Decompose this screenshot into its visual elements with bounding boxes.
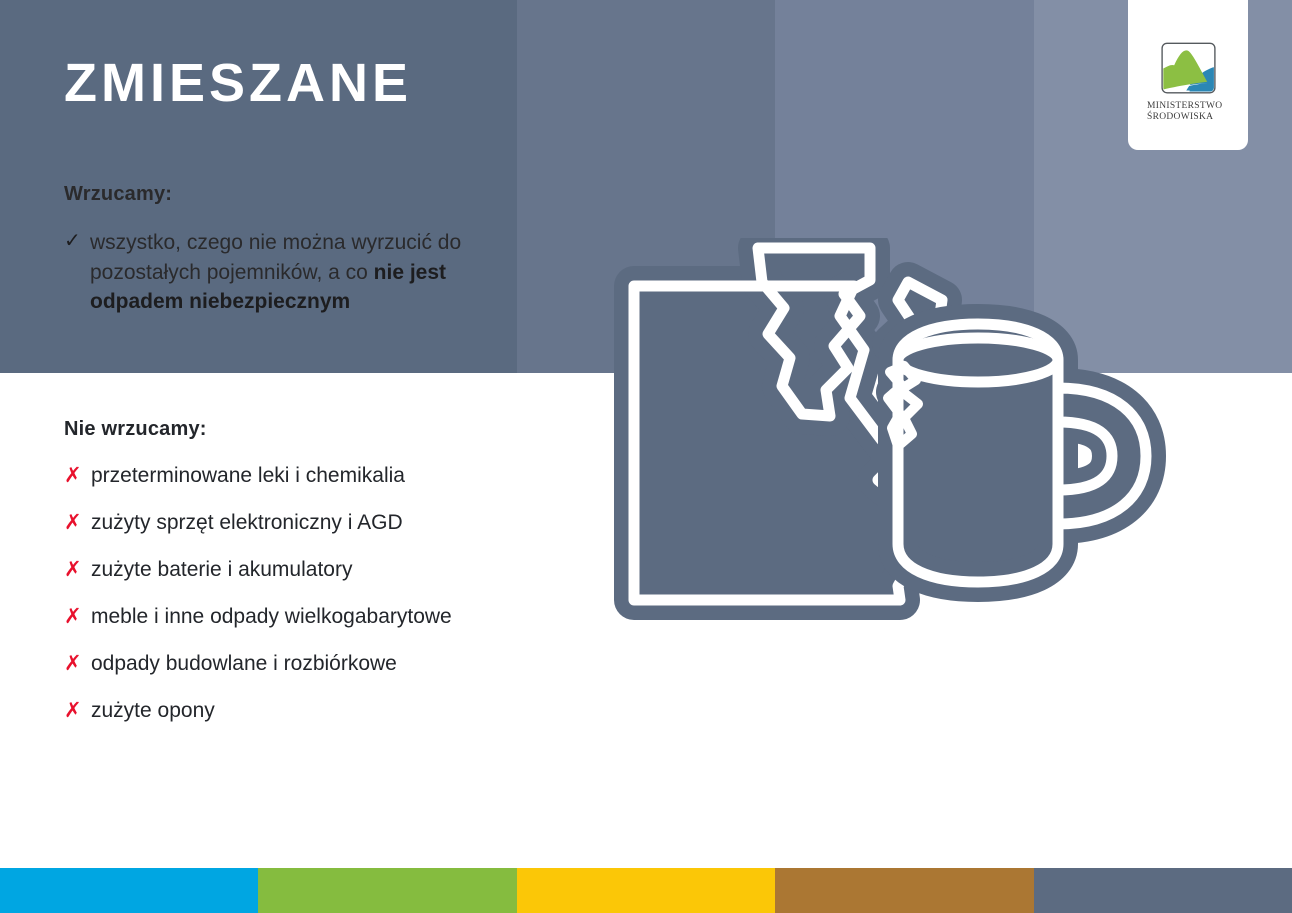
footer-color-bar [0, 868, 1292, 913]
ministry-logo-line2: ŚRODOWISKA [1147, 112, 1248, 123]
rejected-item-label: odpady budowlane i rozbiórkowe [91, 652, 397, 675]
ministry-emblem-icon [1161, 42, 1216, 94]
list-item: ✗ meble i inne odpady wielkogabarytowe [64, 602, 534, 631]
rejected-waste-section: Nie wrzucamy: ✗ przeterminowane leki i c… [64, 418, 534, 725]
cross-mark-icon: ✗ [64, 508, 82, 537]
color-bar-segment-green [258, 868, 516, 913]
background-stripe-3 [775, 0, 1034, 373]
list-item: ✗ przeterminowane leki i chemikalia [64, 461, 534, 490]
color-bar-segment-slate [1034, 868, 1292, 913]
color-bar-segment-yellow [517, 868, 775, 913]
color-bar-segment-cyan [0, 868, 258, 913]
accepted-list: ✓ wszystko, czego nie można wyrzucić do … [64, 228, 464, 317]
list-item: ✗ zużyte opony [64, 696, 534, 725]
rejected-item-label: przeterminowane leki i chemikalia [91, 464, 405, 487]
color-bar-segment-brown [775, 868, 1033, 913]
background-stripe-2 [517, 0, 775, 373]
accepted-heading: Wrzucamy: [64, 183, 464, 206]
rejected-heading: Nie wrzucamy: [64, 418, 534, 441]
list-item: ✗ zużyte baterie i akumulatory [64, 555, 534, 584]
poster-root: ZMIESZANE Wrzucamy: ✓ wszystko, czego ni… [0, 0, 1292, 913]
accepted-waste-section: Wrzucamy: ✓ wszystko, czego nie można wy… [64, 183, 464, 317]
cross-mark-icon: ✗ [64, 602, 82, 631]
ministry-logo-line1: MINISTERSTWO [1147, 101, 1248, 112]
rejected-item-label: zużyte opony [91, 699, 215, 722]
list-item: ✓ wszystko, czego nie można wyrzucić do … [64, 228, 464, 317]
mug-chip-crack [888, 366, 918, 446]
check-mark-icon: ✓ [64, 227, 81, 256]
cross-mark-icon: ✗ [64, 649, 82, 678]
rejected-list: ✗ przeterminowane leki i chemikalia ✗ zu… [64, 461, 534, 725]
rejected-item-label: zużyte baterie i akumulatory [91, 558, 352, 581]
ministry-logo-text: MINISTERSTWO ŚRODOWISKA [1128, 101, 1248, 123]
cross-mark-icon: ✗ [64, 555, 82, 584]
cross-mark-icon: ✗ [64, 461, 82, 490]
list-item: ✗ odpady budowlane i rozbiórkowe [64, 649, 534, 678]
rejected-item-label: meble i inne odpady wielkogabarytowe [91, 605, 452, 628]
cross-mark-icon: ✗ [64, 696, 82, 725]
rejected-item-label: zużyty sprzęt elektroniczny i AGD [91, 511, 403, 534]
list-item: ✗ zużyty sprzęt elektroniczny i AGD [64, 508, 534, 537]
ministry-logo-card: MINISTERSTWO ŚRODOWISKA [1128, 0, 1248, 150]
page-title: ZMIESZANE [64, 56, 412, 110]
